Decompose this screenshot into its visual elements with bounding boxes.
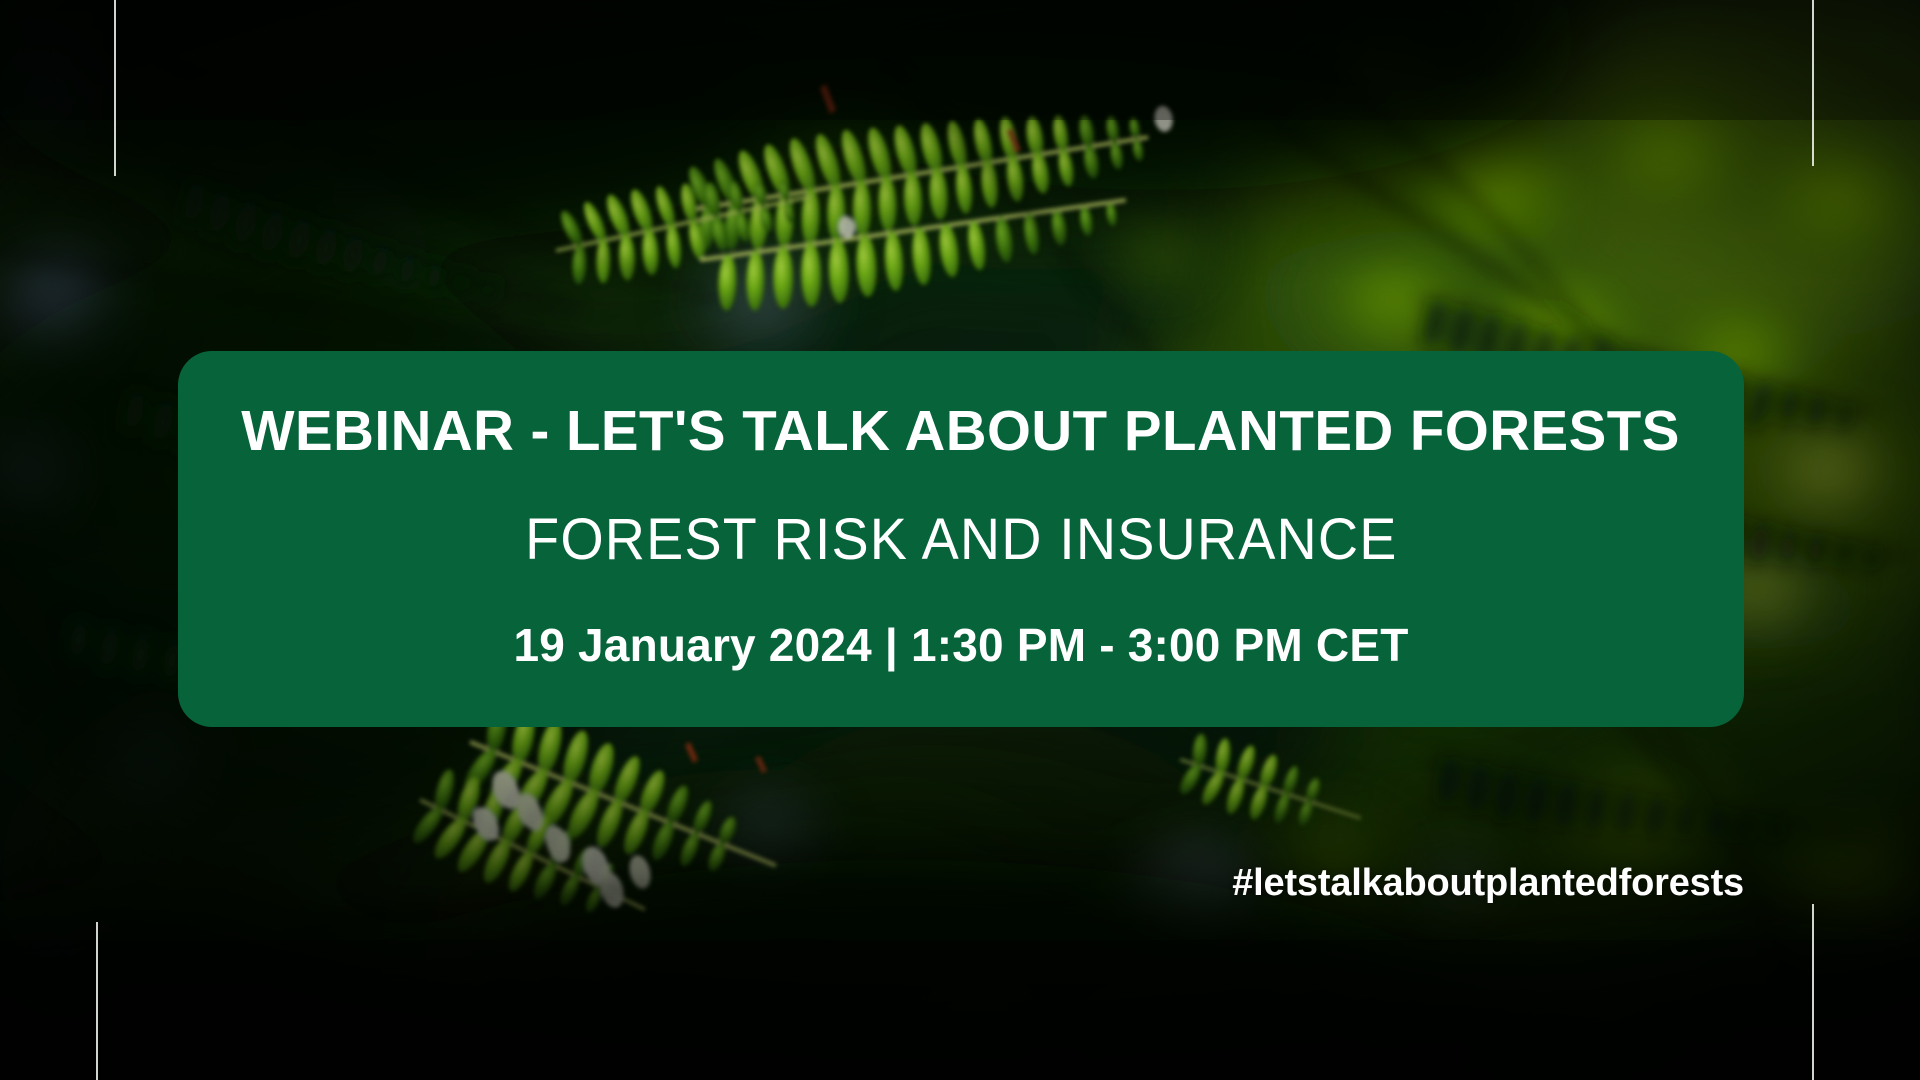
webinar-title: WEBINAR - LET'S TALK ABOUT PLANTED FORES… (242, 402, 1681, 462)
headline-card: WEBINAR - LET'S TALK ABOUT PLANTED FORES… (178, 351, 1744, 727)
accent-line-bottom-left (96, 922, 98, 1080)
webinar-subtitle: FOREST RISK AND INSURANCE (525, 510, 1397, 571)
accent-line-top-right (1812, 0, 1814, 166)
campaign-hashtag: #letstalkaboutplantedforests (0, 862, 1744, 905)
accent-line-top-left (114, 0, 116, 176)
webinar-datetime: 19 January 2024 | 1:30 PM - 3:00 PM CET (513, 621, 1408, 669)
accent-line-bottom-right (1812, 904, 1814, 1080)
webinar-poster: WEBINAR - LET'S TALK ABOUT PLANTED FORES… (0, 0, 1920, 1080)
